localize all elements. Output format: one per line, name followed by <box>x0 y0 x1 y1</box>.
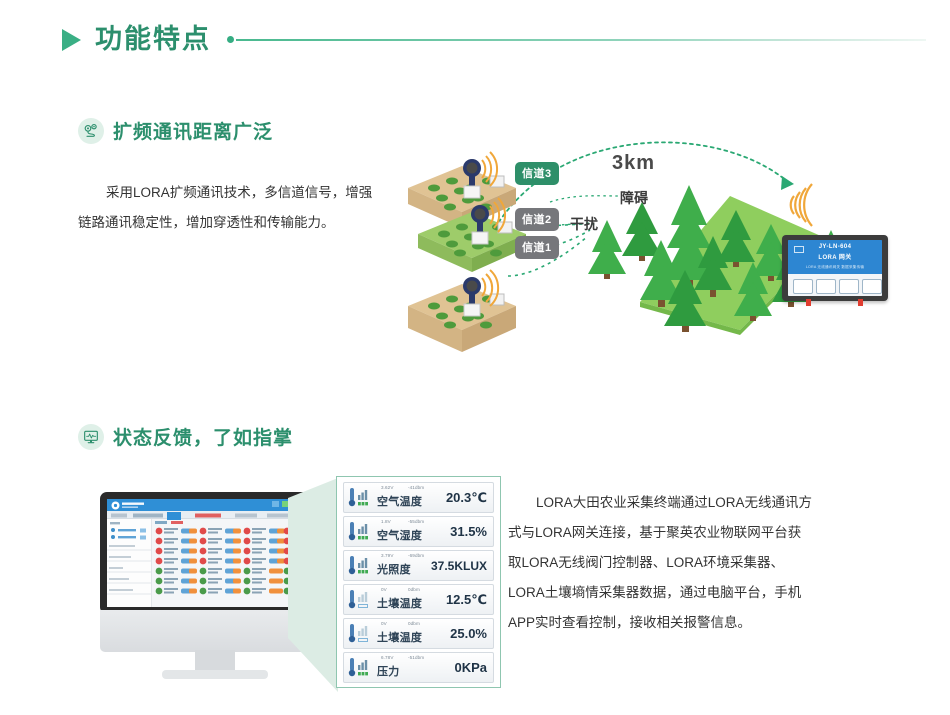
sensor-meta: 3.62V -41dbm 空气温度 <box>375 483 446 512</box>
sensor-value: 31.5% <box>450 524 489 539</box>
subsection-spread-spectrum: 扩频通讯距离广泛 <box>78 117 273 144</box>
paragraph-spread-spectrum: 采用LORA扩频通讯技术，多信道信号，增强 链路通讯稳定性，增加穿透性和传输能力… <box>78 178 378 238</box>
gateway-terminal-left <box>806 299 811 306</box>
sensor-status-panel: 3.62V -41dbm 空气温度 20.3℃ 1 <box>336 476 501 688</box>
sensor-row[interactable]: 6.78V -51dbm 压力 0KPa <box>343 652 494 683</box>
sensor-name: 空气湿度 <box>377 527 422 543</box>
sensor-voltage: 1.8V <box>381 519 391 524</box>
gateway-name: LORA 网关 <box>788 252 882 261</box>
sensor-dbm: -51dbm <box>408 655 424 660</box>
gateway-button-3[interactable] <box>839 279 859 294</box>
gateway-screen: JY-LN-604 LORA 网关 LORA 无线通讯网关 数据采集传输 <box>788 240 882 296</box>
sensor-row[interactable]: 1.8V -55dbm 空气湿度 31.5% <box>343 516 494 547</box>
subsection-title: 扩频通讯距离广泛 <box>113 117 273 144</box>
section-header: 功能特点 <box>62 26 926 53</box>
gateway-button-1[interactable] <box>793 279 813 294</box>
sensor-meta: 6.78V -51dbm 压力 <box>375 653 454 682</box>
sensor-name: 空气温度 <box>377 493 422 509</box>
sensor-voltage: 6.78V <box>381 655 394 660</box>
header-divider <box>236 39 926 41</box>
sensor-dbm: -69dbm <box>408 553 424 558</box>
obstacle-label: 障碍 <box>620 188 648 208</box>
thermometer-signal-icon <box>348 521 372 542</box>
sensor-value: 12.5℃ <box>446 592 489 608</box>
sensor-voltage: 0V <box>381 587 387 592</box>
sensor-dbm: -41dbm <box>408 485 424 490</box>
thermometer-signal-icon <box>348 487 372 508</box>
sensor-meta: 1.8V -55dbm 空气湿度 <box>375 517 450 546</box>
paragraph-line: 链路通讯稳定性，增加穿透性和传输能力。 <box>78 208 378 238</box>
sensor-name: 土壤温度 <box>377 629 422 645</box>
paragraph-line: LORA土壤墒情采集器数据，通过电脑平台，手机 <box>508 578 853 608</box>
monitor-base <box>162 670 268 679</box>
paragraph-line: LORA大田农业采集终端通过LORA无线通讯方 <box>508 488 853 518</box>
gateway-subtitle: LORA 无线通讯网关 数据采集传输 <box>788 265 882 270</box>
channel-badge-2: 信道2 <box>515 208 559 231</box>
sensor-voltage: 3.79V <box>381 553 394 558</box>
subsection-status-feedback: 状态反馈，了如指掌 <box>78 423 293 450</box>
sensor-voltage: 3.62V <box>381 485 394 490</box>
monitor-pulse-icon <box>78 424 104 450</box>
gateway-signal-waves <box>791 184 812 226</box>
lora-gateway-device: JY-LN-604 LORA 网关 LORA 无线通讯网关 数据采集传输 <box>782 235 888 301</box>
thermometer-signal-icon <box>348 657 372 678</box>
gateway-button-4[interactable] <box>862 279 882 294</box>
map-route-pin-icon <box>78 118 104 144</box>
paragraph-status-feedback: LORA大田农业采集终端通过LORA无线通讯方 式与LORA网关连接，基于聚英农… <box>508 488 853 638</box>
dashboard-sidebar[interactable] <box>107 519 152 607</box>
sensor-name: 压力 <box>377 663 400 679</box>
sensor-meta: 0V 0dbm 土壤温度 <box>375 585 446 614</box>
sensor-row[interactable]: 0V 0dbm 土壤温度 25.0% <box>343 618 494 649</box>
play-triangle-icon <box>62 29 81 51</box>
sensor-row[interactable]: 0V 0dbm 土壤温度 12.5℃ <box>343 584 494 615</box>
paragraph-line: 式与LORA网关连接，基于聚英农业物联网平台获 <box>508 518 853 548</box>
distance-label: 3km <box>612 152 655 175</box>
sensor-meta: 3.79V -69dbm 光照度 <box>375 551 431 580</box>
subsection-title: 状态反馈，了如指掌 <box>113 423 293 450</box>
paragraph-line: 取LORA无线阀门控制器、LORA环境采集器、 <box>508 548 853 578</box>
interference-label: 干扰 <box>570 214 598 234</box>
lora-network-diagram: 信道3 信道2 信道1 3km 障碍 干扰 JY-LN-604 LORA 网关 … <box>390 130 910 390</box>
sensor-value: 0KPa <box>454 660 489 675</box>
thermometer-signal-icon <box>348 555 372 576</box>
thermometer-signal-icon <box>348 589 372 610</box>
thermometer-signal-icon <box>348 623 372 644</box>
paragraph-line: 采用LORA扩频通讯技术，多信道信号，增强 <box>78 178 378 208</box>
sensor-value: 37.5KLUX <box>431 559 489 573</box>
gateway-model: JY-LN-604 <box>788 244 882 250</box>
sensor-value: 25.0% <box>450 626 489 641</box>
sensor-name: 土壤温度 <box>377 595 422 611</box>
sensor-dbm: 0dbm <box>408 587 420 592</box>
gateway-terminal-right <box>858 299 863 306</box>
page-root: 功能特点 扩频通讯距离广泛 采用LORA扩频通讯技术，多信道信号，增强 链路通讯… <box>0 0 950 715</box>
channel-badge-1: 信道1 <box>515 236 559 259</box>
dashboard-logo <box>111 501 151 510</box>
header-dot <box>227 36 234 43</box>
sensor-meta: 0V 0dbm 土壤温度 <box>375 619 450 648</box>
sensor-name: 光照度 <box>377 561 411 577</box>
sensor-dbm: 0dbm <box>408 621 420 626</box>
paragraph-line: APP实时查看控制，接收相关报警信息。 <box>508 608 853 638</box>
sensor-dbm: -55dbm <box>408 519 424 524</box>
gateway-button-2[interactable] <box>816 279 836 294</box>
sensor-row[interactable]: 3.79V -69dbm 光照度 37.5KLUX <box>343 550 494 581</box>
channel-badge-3: 信道3 <box>515 162 559 185</box>
sensor-value: 20.3℃ <box>446 490 489 506</box>
page-title: 功能特点 <box>95 26 211 53</box>
sensor-row[interactable]: 3.62V -41dbm 空气温度 20.3℃ <box>343 482 494 513</box>
sensor-voltage: 0V <box>381 621 387 626</box>
